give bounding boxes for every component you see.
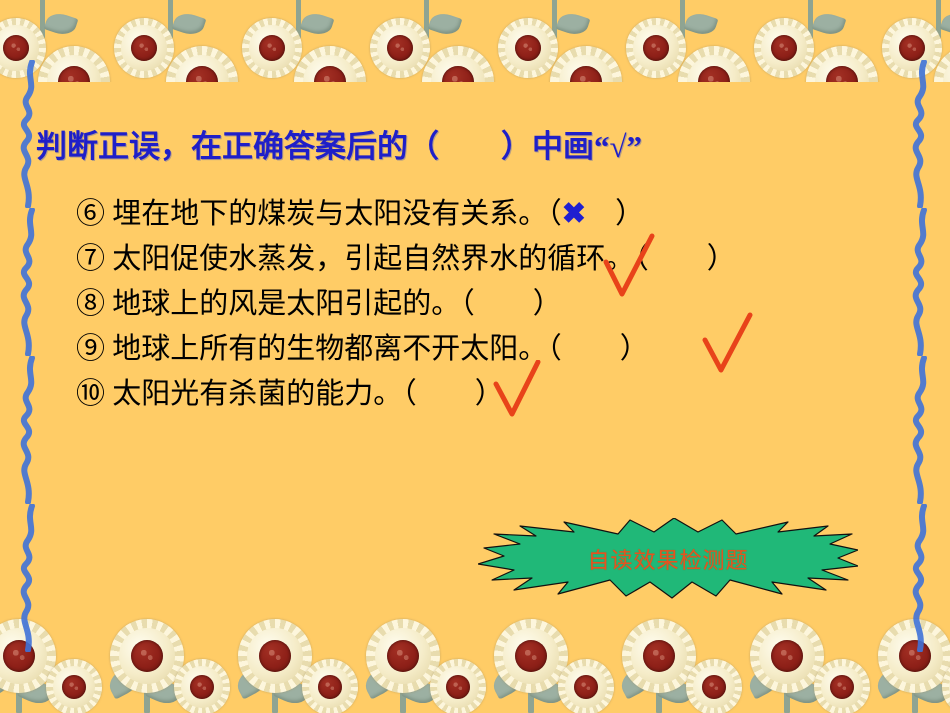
decorative-bottom-border [0,617,950,713]
sunflower-icon [494,619,568,693]
sunflower-icon [754,18,814,78]
flower-cluster [210,617,340,713]
question-text: 地球上所有的生物都离不开太阳。（ [112,333,562,365]
sunflower-icon [942,659,950,713]
flower-cluster [364,0,494,82]
flower-cluster [236,0,366,82]
sunflower-icon [114,18,174,78]
squiggle-stroke-icon [6,208,52,356]
question-number: ⑨ [76,333,105,365]
squiggle-stroke-icon [6,356,52,504]
answer-mark-cross: ✖ [562,198,586,230]
flower-cluster [108,0,238,82]
sunflower-icon [46,659,102,713]
sunflower-icon [686,659,742,713]
decorative-top-border [0,0,950,82]
question-tail: ） [475,288,562,320]
flower-cluster [850,617,950,713]
slide-title: 判断正误，在正确答案后的（ ）中画“√” [36,121,642,166]
sunflower-icon [0,619,56,693]
sunflower-icon [110,619,184,693]
squiggle-stroke-icon [898,60,944,208]
sunflower-icon [750,619,824,693]
sunflower-icon [422,46,494,82]
sunflower-icon [242,18,302,78]
sunflower-icon [626,18,686,78]
question-tail: ） [649,243,736,275]
sunflower-icon [238,619,312,693]
sunflower-icon [0,18,46,78]
flower-cluster [0,617,84,713]
question-list: ⑥ 埋在地下的煤炭与太阳没有关系。（✖ ） ⑦ 太阳促使水蒸发，引起自然界水的循… [76,192,876,417]
sunflower-icon [430,659,486,713]
flower-cluster [338,617,468,713]
question-item: ⑥ 埋在地下的煤炭与太阳没有关系。（✖ ） [76,192,876,237]
squiggle-stroke-icon [898,356,944,504]
flower-cluster [0,0,110,82]
sunflower-icon [814,659,870,713]
flower-cluster [492,0,622,82]
sunflower-icon [174,659,230,713]
question-tail: ） [417,378,504,410]
sunflower-icon [934,46,950,82]
question-item: ⑧ 地球上的风是太阳引起的。（ ） [76,282,876,327]
question-tail: ） [586,198,644,230]
sunflower-icon [622,619,696,693]
sunflower-icon [878,619,950,693]
question-item: ⑨ 地球上所有的生物都离不开太阳。（ ） [76,327,876,372]
squiggle-stroke-icon [6,504,52,652]
question-text: 太阳促使水蒸发，引起自然界水的循环。（ [112,243,649,275]
flower-cluster [876,0,950,82]
question-tail: ） [562,333,649,365]
squiggle-stroke-icon [898,504,944,652]
sunflower-icon [294,46,366,82]
sunflower-icon [38,46,110,82]
squiggle-stroke-icon [898,208,944,356]
question-text: 太阳光有杀菌的能力。（ [112,378,417,410]
question-number: ⑦ [76,243,105,275]
sunflower-icon [370,18,430,78]
decorative-right-squiggles [898,60,944,650]
question-text: 地球上的风是太阳引起的。（ [112,288,475,320]
question-item: ⑦ 太阳促使水蒸发，引起自然界水的循环。（ ） [76,237,876,282]
sunflower-icon [678,46,750,82]
flower-cluster [594,617,724,713]
flower-cluster [620,0,750,82]
sunflower-icon [166,46,238,82]
question-number: ⑩ [76,378,105,410]
starburst-banner[interactable]: 自读效果检测题 [478,518,858,600]
banner-label: 自读效果检测题 [478,518,858,600]
sunflower-icon [498,18,558,78]
flower-cluster [722,617,852,713]
slide-canvas: 判断正误，在正确答案后的（ ）中画“√” ⑥ 埋在地下的煤炭与太阳没有关系。（✖… [0,0,950,713]
question-number: ⑥ [76,198,105,230]
sunflower-icon [806,46,878,82]
question-number: ⑧ [76,288,105,320]
flower-cluster [748,0,878,82]
flower-cluster [466,617,596,713]
sunflower-icon [302,659,358,713]
sunflower-icon [882,18,942,78]
question-item: ⑩ 太阳光有杀菌的能力。（ ） [76,372,876,417]
sunflower-icon [550,46,622,82]
question-text: 埋在地下的煤炭与太阳没有关系。（ [112,198,562,230]
sunflower-icon [366,619,440,693]
sunflower-icon [558,659,614,713]
flower-cluster [82,617,212,713]
